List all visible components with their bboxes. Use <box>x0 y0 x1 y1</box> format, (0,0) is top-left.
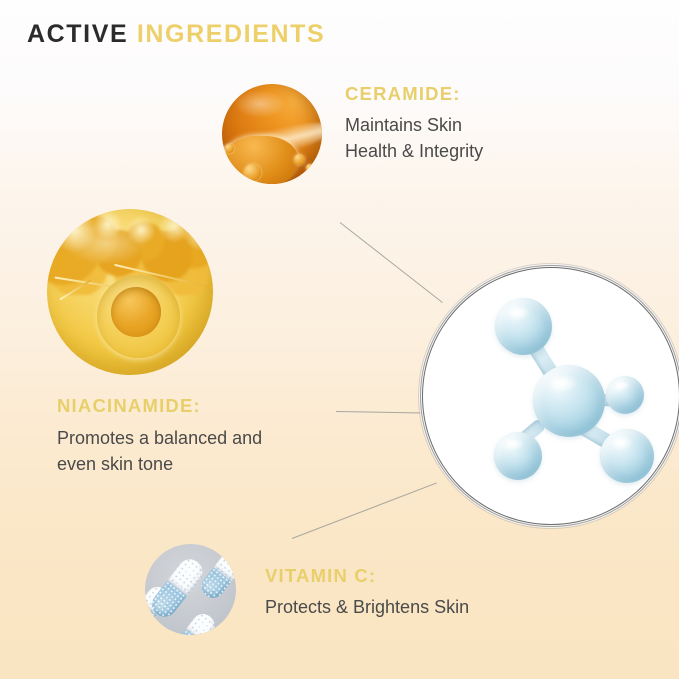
niacinamide-description-line-2: even skin tone <box>57 451 262 477</box>
vitaminc-text-block: VITAMIN C: Protects & Brightens Skin <box>265 566 469 620</box>
molecule-illustration <box>423 268 679 524</box>
page-title: ACTIVE INGREDIENTS <box>27 22 325 47</box>
molecule-atom <box>494 432 542 480</box>
molecule-atom <box>495 298 552 355</box>
capsule-top <box>186 610 220 635</box>
ceramide-text-block: CERAMIDE: Maintains Skin Health & Integr… <box>345 84 483 165</box>
niacinamide-description-line-1: Promotes a balanced and <box>57 425 262 451</box>
connector-line-ceramide <box>340 222 443 303</box>
ceramide-heading: CERAMIDE: <box>345 84 483 104</box>
vitaminc-swatch-icon <box>145 544 236 635</box>
ceramide-swatch-icon <box>222 84 322 184</box>
infographic-canvas: ACTIVE INGREDIENTS CERAMIDE: Maintains S… <box>0 0 679 679</box>
connector-line-vitaminc <box>292 482 437 538</box>
ceramide-gloss <box>234 90 286 118</box>
capsule-icon <box>170 610 219 635</box>
niacinamide-gloss <box>64 222 147 265</box>
ceramide-description-line-1: Maintains Skin <box>345 112 483 138</box>
ceramide-droplet <box>294 154 305 165</box>
ceramide-droplet <box>306 164 314 172</box>
ceramide-droplet <box>244 164 261 181</box>
niacinamide-well-inner <box>111 287 161 337</box>
molecule-atom-center <box>533 365 605 437</box>
niacinamide-text-block: NIACINAMIDE: Promotes a balanced and eve… <box>57 396 262 478</box>
page-title-primary: ACTIVE <box>27 20 128 48</box>
vitaminc-heading: VITAMIN C: <box>265 566 469 586</box>
connector-line-niacinamide <box>336 411 436 414</box>
ceramide-bowl <box>224 136 298 184</box>
vitaminc-description-line-1: Protects & Brightens Skin <box>265 594 469 620</box>
niacinamide-swatch-icon <box>47 209 213 375</box>
page-title-accent: INGREDIENTS <box>137 20 325 48</box>
niacinamide-heading: NIACINAMIDE: <box>57 396 262 416</box>
molecule-atom <box>600 429 654 483</box>
ceramide-droplet <box>225 144 234 153</box>
molecule-atom <box>606 376 644 414</box>
ceramide-description-line-2: Health & Integrity <box>345 138 483 164</box>
